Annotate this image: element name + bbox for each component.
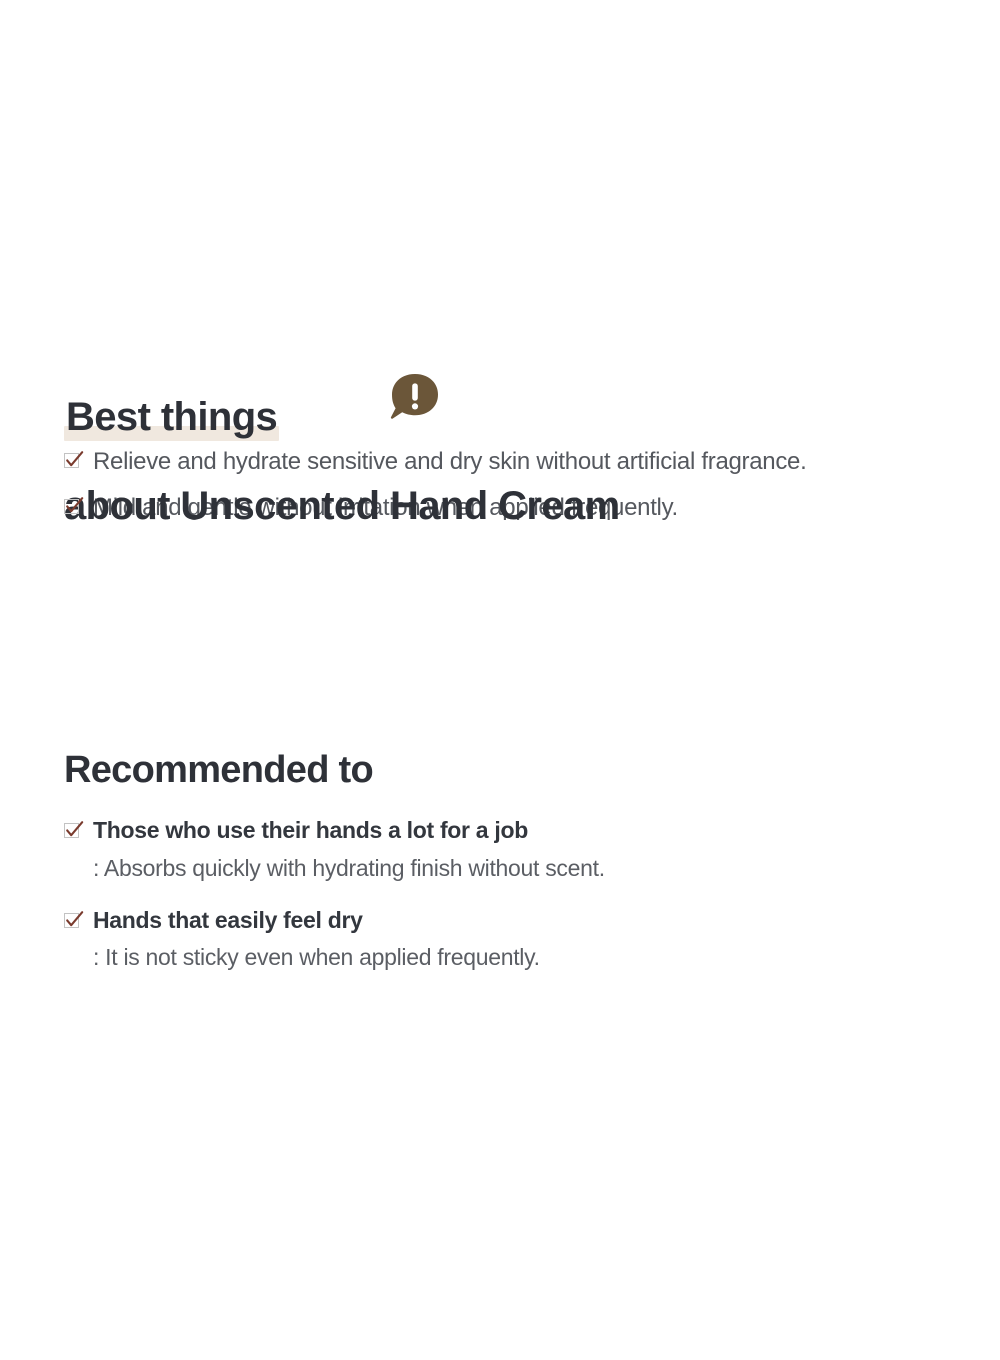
recommended-item-detail: : It is not sticky even when applied fre… <box>93 943 964 973</box>
product-info-page: Best things about Unscented Hand Cream <box>0 0 1000 1360</box>
headline-first-line-text: Best things <box>66 395 277 439</box>
best-things-headline-first-line: Best things <box>64 395 279 441</box>
checkbox-checked-icon <box>64 911 84 931</box>
recommended-item-heading: Those who use their hands a lot for a jo… <box>93 816 528 846</box>
best-things-section: Best things about Unscented Hand Cream <box>64 368 964 539</box>
best-things-headline-row: Best things about Unscented Hand Cream <box>64 368 964 426</box>
recommended-item-heading-row: Hands that easily feel dry <box>64 906 964 936</box>
list-item: Those who use their hands a lot for a jo… <box>64 816 964 884</box>
recommended-item-heading: Hands that easily feel dry <box>93 906 363 936</box>
checkbox-checked-icon <box>64 497 84 517</box>
checkbox-checked-icon <box>64 821 84 841</box>
recommended-to-section: Recommended to Those who use their hands… <box>64 750 964 995</box>
recommended-to-list: Those who use their hands a lot for a jo… <box>64 816 964 974</box>
exclamation-speech-bubble-icon <box>386 370 444 428</box>
recommended-item-heading-row: Those who use their hands a lot for a jo… <box>64 816 964 846</box>
recommended-to-title: Recommended to <box>64 750 964 792</box>
best-things-headline-second-line: about Unscented Hand Cream <box>64 484 964 529</box>
recommended-item-detail: : Absorbs quickly with hydrating finish … <box>93 854 964 884</box>
checkbox-checked-icon <box>64 451 84 471</box>
list-item: Hands that easily feel dry : It is not s… <box>64 906 964 974</box>
